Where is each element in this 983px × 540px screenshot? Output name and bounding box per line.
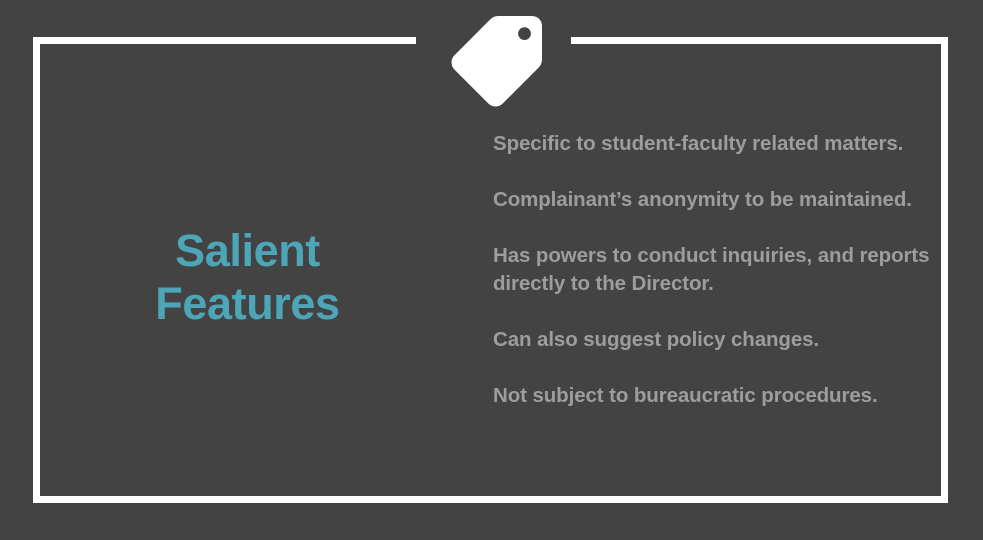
list-item: Has powers to conduct inquiries, and rep… bbox=[493, 242, 933, 298]
slide-content: Salient Features Specific to student-fac… bbox=[0, 0, 983, 540]
bullet-list: Specific to student-faculty related matt… bbox=[493, 130, 933, 410]
page-title-line-2: Features bbox=[60, 277, 435, 330]
list-item: Complainant’s anonymity to be maintained… bbox=[493, 186, 933, 214]
slide: Salient Features Specific to student-fac… bbox=[0, 0, 983, 540]
list-item: Can also suggest policy changes. bbox=[493, 326, 933, 354]
list-item: Specific to student-faculty related matt… bbox=[493, 130, 933, 158]
page-title: Salient Features bbox=[60, 224, 435, 330]
page-title-line-1: Salient bbox=[60, 224, 435, 277]
list-item: Not subject to bureaucratic procedures. bbox=[493, 382, 933, 410]
